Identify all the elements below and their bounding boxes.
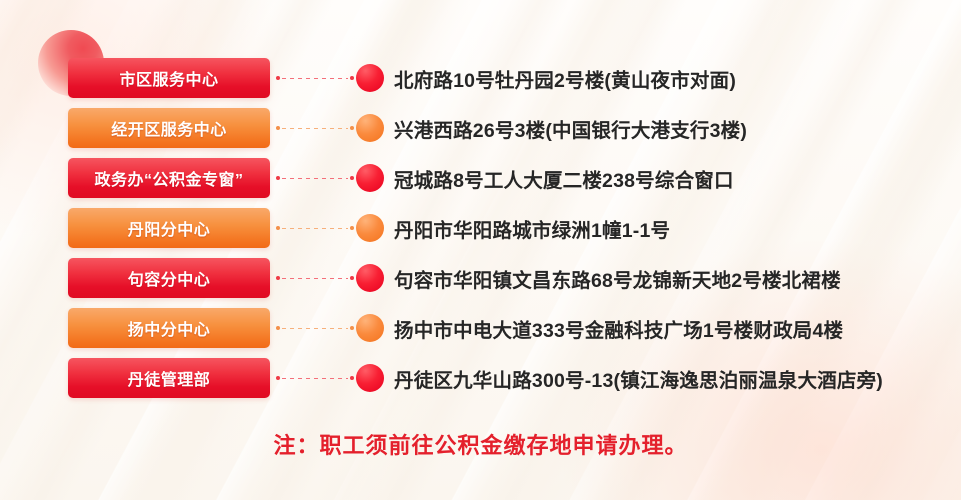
service-center-name: 丹阳分中心 bbox=[128, 216, 211, 240]
bullet-circle-icon bbox=[356, 164, 384, 192]
connector-start-dot-icon bbox=[276, 276, 280, 280]
service-center-pill[interactable]: 句容分中心 bbox=[68, 258, 270, 298]
service-center-address: 北府路10号牡丹园2号楼(黄山夜市对面) bbox=[394, 64, 736, 93]
connector-dashes-icon bbox=[282, 78, 348, 79]
connector-start-dot-icon bbox=[276, 176, 280, 180]
connector-end-dot-icon bbox=[350, 276, 354, 280]
service-center-pill[interactable]: 经开区服务中心 bbox=[68, 108, 270, 148]
service-center-address: 丹徒区九华山路300号-13(镇江海逸思泊丽温泉大酒店旁) bbox=[394, 364, 883, 393]
service-center-row: 市区服务中心北府路10号牡丹园2号楼(黄山夜市对面) bbox=[0, 57, 961, 99]
service-center-name: 句容分中心 bbox=[128, 266, 211, 290]
service-center-address: 丹阳市华阳路城市绿洲1幢1-1号 bbox=[394, 214, 670, 243]
service-center-pill[interactable]: 市区服务中心 bbox=[68, 58, 270, 98]
service-center-row: 政务办“公积金专窗”冠城路8号工人大厦二楼238号综合窗口 bbox=[0, 157, 961, 199]
connector-dashes-icon bbox=[282, 378, 348, 379]
service-center-pill[interactable]: 丹阳分中心 bbox=[68, 208, 270, 248]
connector-dashes-icon bbox=[282, 328, 348, 329]
connector-start-dot-icon bbox=[276, 326, 280, 330]
bullet-circle-icon bbox=[356, 64, 384, 92]
service-center-list: 市区服务中心北府路10号牡丹园2号楼(黄山夜市对面)经开区服务中心兴港西路26号… bbox=[0, 0, 961, 500]
connector-end-dot-icon bbox=[350, 376, 354, 380]
footer-note: 注：职工须前往公积金缴存地申请办理。 bbox=[0, 428, 961, 460]
infographic-canvas: 市区服务中心北府路10号牡丹园2号楼(黄山夜市对面)经开区服务中心兴港西路26号… bbox=[0, 0, 961, 500]
service-center-row: 扬中分中心扬中市中电大道333号金融科技广场1号楼财政局4楼 bbox=[0, 307, 961, 349]
connector-end-dot-icon bbox=[350, 76, 354, 80]
service-center-pill[interactable]: 政务办“公积金专窗” bbox=[68, 158, 270, 198]
connector-start-dot-icon bbox=[276, 376, 280, 380]
service-center-address: 扬中市中电大道333号金融科技广场1号楼财政局4楼 bbox=[394, 314, 843, 343]
service-center-name: 扬中分中心 bbox=[128, 316, 211, 340]
service-center-pill[interactable]: 扬中分中心 bbox=[68, 308, 270, 348]
dashed-connector-icon bbox=[276, 172, 354, 184]
bullet-circle-icon bbox=[356, 264, 384, 292]
bullet-circle-icon bbox=[356, 114, 384, 142]
service-center-name: 市区服务中心 bbox=[119, 66, 218, 90]
connector-end-dot-icon bbox=[350, 226, 354, 230]
connector-start-dot-icon bbox=[276, 126, 280, 130]
dashed-connector-icon bbox=[276, 222, 354, 234]
dashed-connector-icon bbox=[276, 272, 354, 284]
service-center-row: 丹徒管理部丹徒区九华山路300号-13(镇江海逸思泊丽温泉大酒店旁) bbox=[0, 357, 961, 399]
connector-dashes-icon bbox=[282, 228, 348, 229]
service-center-address: 兴港西路26号3楼(中国银行大港支行3楼) bbox=[394, 114, 747, 143]
connector-end-dot-icon bbox=[350, 326, 354, 330]
connector-end-dot-icon bbox=[350, 126, 354, 130]
connector-dashes-icon bbox=[282, 278, 348, 279]
dashed-connector-icon bbox=[276, 122, 354, 134]
connector-dashes-icon bbox=[282, 178, 348, 179]
bullet-circle-icon bbox=[356, 364, 384, 392]
service-center-row: 丹阳分中心丹阳市华阳路城市绿洲1幢1-1号 bbox=[0, 207, 961, 249]
dashed-connector-icon bbox=[276, 372, 354, 384]
service-center-address: 句容市华阳镇文昌东路68号龙锦新天地2号楼北裙楼 bbox=[394, 264, 841, 293]
service-center-row: 经开区服务中心兴港西路26号3楼(中国银行大港支行3楼) bbox=[0, 107, 961, 149]
connector-start-dot-icon bbox=[276, 226, 280, 230]
service-center-name: 政务办“公积金专窗” bbox=[94, 166, 243, 190]
connector-dashes-icon bbox=[282, 128, 348, 129]
service-center-name: 丹徒管理部 bbox=[128, 366, 211, 390]
service-center-address: 冠城路8号工人大厦二楼238号综合窗口 bbox=[394, 164, 734, 193]
bullet-circle-icon bbox=[356, 314, 384, 342]
bullet-circle-icon bbox=[356, 214, 384, 242]
connector-end-dot-icon bbox=[350, 176, 354, 180]
dashed-connector-icon bbox=[276, 72, 354, 84]
dashed-connector-icon bbox=[276, 322, 354, 334]
service-center-name: 经开区服务中心 bbox=[111, 116, 227, 140]
service-center-pill[interactable]: 丹徒管理部 bbox=[68, 358, 270, 398]
service-center-row: 句容分中心句容市华阳镇文昌东路68号龙锦新天地2号楼北裙楼 bbox=[0, 257, 961, 299]
connector-start-dot-icon bbox=[276, 76, 280, 80]
